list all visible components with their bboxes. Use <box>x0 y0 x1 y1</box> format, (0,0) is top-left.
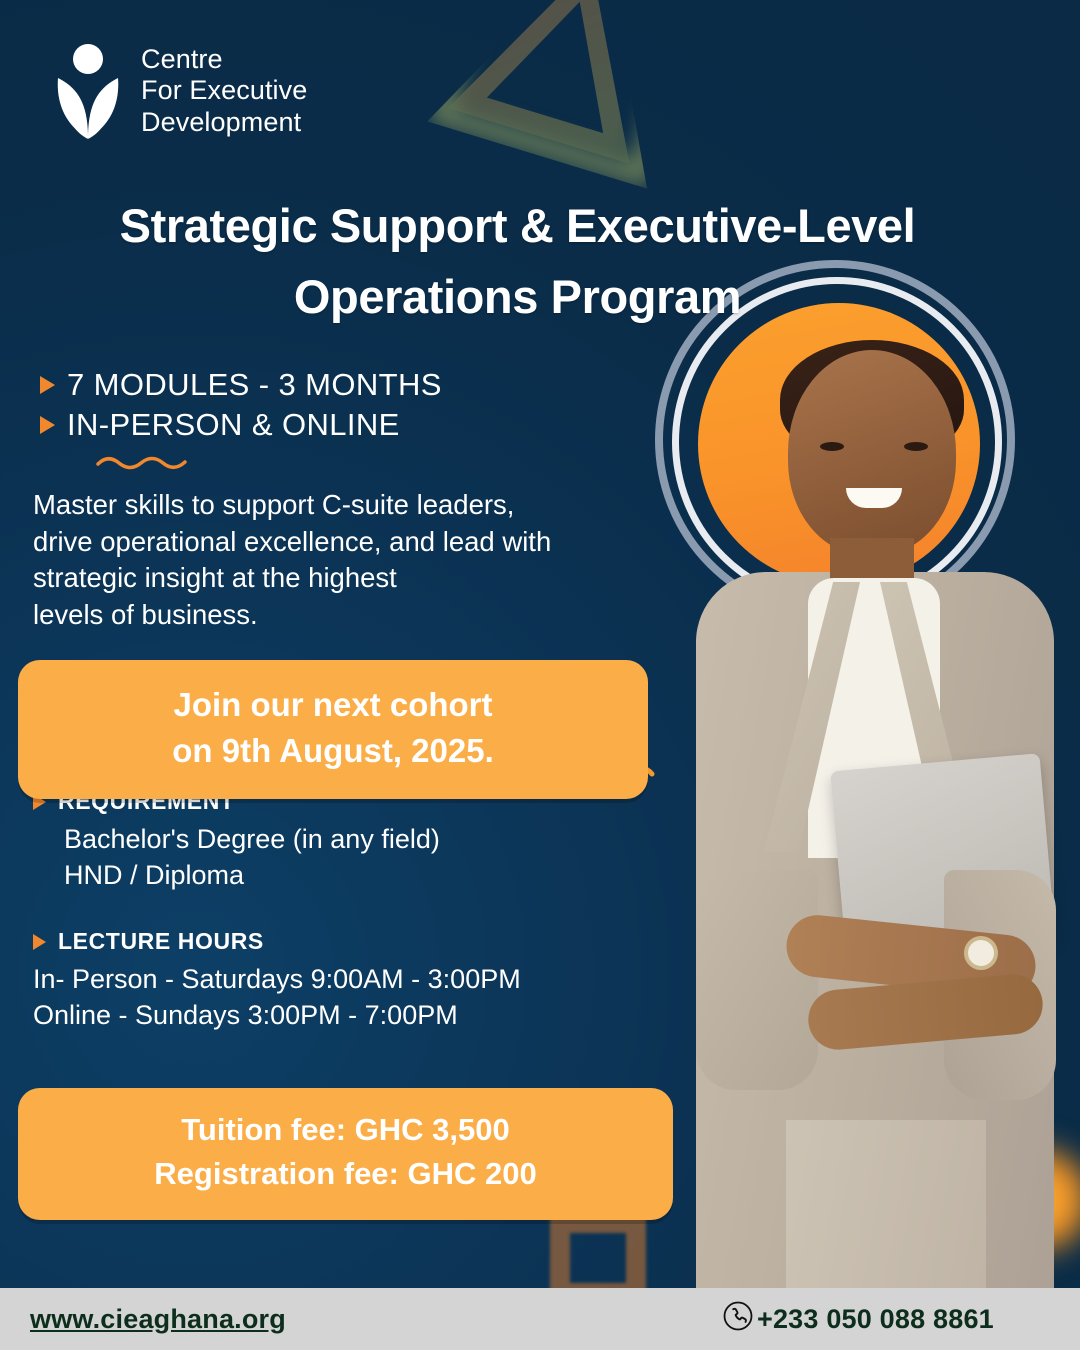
cohort-banner-line2: on 9th August, 2025. <box>18 728 648 774</box>
description-line1: Master skills to support C-suite leaders… <box>33 487 693 524</box>
triangle-bullet-icon <box>33 934 46 950</box>
requirement-section: REQUIREMENT Bachelor's Degree (in any fi… <box>33 788 440 893</box>
description-line3: strategic insight at the highest <box>33 560 693 597</box>
requirement-line2: HND / Diploma <box>64 858 440 894</box>
highlight-item: IN-PERSON & ONLINE <box>40 407 442 443</box>
hero-photo <box>650 255 1080 1295</box>
lecture-hours-line1: In- Person - Saturdays 9:00AM - 3:00PM <box>33 962 521 998</box>
cohort-banner-line1: Join our next cohort <box>18 682 648 728</box>
brand-name: Centre For Executive Development <box>141 44 307 138</box>
triangle-bullet-icon <box>40 376 55 394</box>
fees-banner-line2: Registration fee: GHC 200 <box>18 1152 673 1196</box>
fees-banner-line1: Tuition fee: GHC 3,500 <box>18 1108 673 1152</box>
highlight-label: 7 MODULES - 3 MONTHS <box>67 367 442 403</box>
lecture-hours-section: LECTURE HOURS In- Person - Saturdays 9:0… <box>33 928 521 1033</box>
brand-name-line3: Development <box>141 107 307 138</box>
triangle-bullet-icon <box>40 416 55 434</box>
website-link[interactable]: www.cieaghana.org <box>30 1304 286 1335</box>
orange-wavy-line-icon <box>95 452 195 477</box>
description-line4: levels of business. <box>33 597 693 634</box>
footer-bar: www.cieaghana.org +233 050 088 8861 <box>0 1288 1080 1350</box>
page-title: Strategic Support & Executive-Level Oper… <box>0 190 1035 333</box>
requirement-line1: Bachelor's Degree (in any field) <box>64 822 440 858</box>
promotional-flyer: Centre For Executive Development Strateg… <box>0 0 1080 1350</box>
highlight-label: IN-PERSON & ONLINE <box>67 407 400 443</box>
lecture-hours-heading: LECTURE HOURS <box>33 928 521 955</box>
page-title-line1: Strategic Support & Executive-Level <box>0 190 1035 261</box>
page-title-line2: Operations Program <box>0 261 1035 332</box>
brand-name-line2: For Executive <box>141 75 307 106</box>
cohort-banner[interactable]: Join our next cohort on 9th August, 2025… <box>18 660 648 799</box>
brand-name-line1: Centre <box>141 44 307 75</box>
lecture-hours-line2: Online - Sundays 3:00PM - 7:00PM <box>33 998 521 1034</box>
program-description: Master skills to support C-suite leaders… <box>33 487 693 633</box>
phone-number: +233 050 088 8861 <box>757 1304 994 1335</box>
lecture-hours-title: LECTURE HOURS <box>58 928 264 955</box>
businesswoman-figure <box>668 350 1072 1295</box>
phone-contact[interactable]: +233 050 088 8861 <box>722 1300 994 1339</box>
person-leaf-logo-icon <box>52 42 124 140</box>
fees-banner[interactable]: Tuition fee: GHC 3,500 Registration fee:… <box>18 1088 673 1220</box>
description-line2: drive operational excellence, and lead w… <box>33 524 693 561</box>
phone-circle-icon <box>722 1300 754 1339</box>
program-highlights: 7 MODULES - 3 MONTHS IN-PERSON & ONLINE <box>40 367 442 447</box>
highlight-item: 7 MODULES - 3 MONTHS <box>40 367 442 403</box>
brand-logo[interactable]: Centre For Executive Development <box>52 42 307 140</box>
